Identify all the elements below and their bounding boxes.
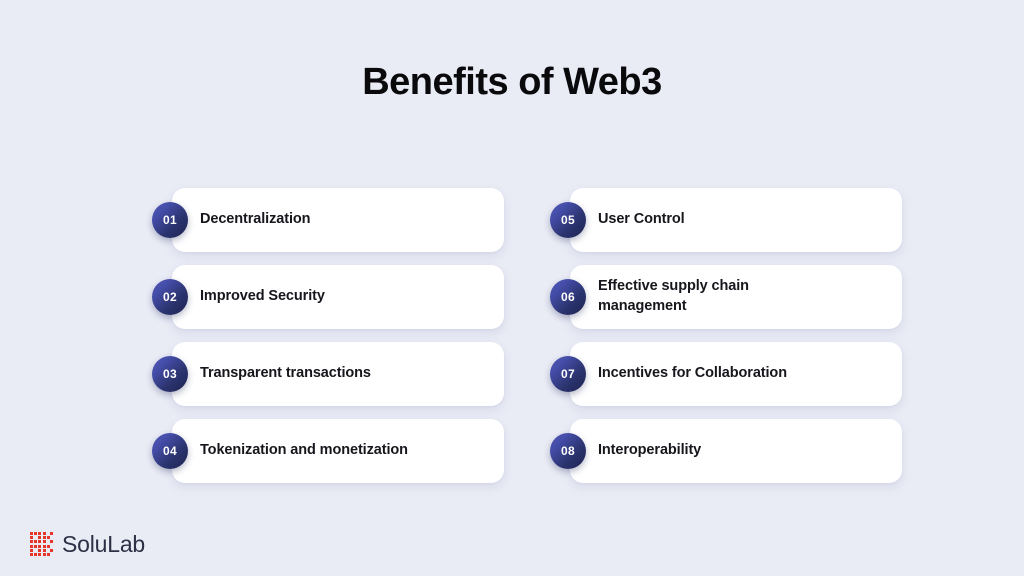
benefit-card[interactable]: 02 Improved Security (152, 265, 504, 329)
benefits-list: 01 Decentralization 02 Improved Security… (0, 188, 1024, 488)
benefit-number: 05 (561, 214, 575, 226)
benefit-card[interactable]: 08 Interoperability (550, 419, 902, 483)
benefit-number-badge: 03 (152, 356, 188, 392)
benefit-number-badge: 07 (550, 356, 586, 392)
benefit-label: Tokenization and monetization (200, 419, 490, 483)
page-title: Benefits of Web3 (0, 62, 1024, 104)
benefit-number-badge: 05 (550, 202, 586, 238)
benefit-card[interactable]: 01 Decentralization (152, 188, 504, 252)
brand-name: SoluLab (62, 533, 145, 556)
benefit-number: 02 (163, 291, 177, 303)
benefit-number: 03 (163, 368, 177, 380)
benefit-number-badge: 01 (152, 202, 188, 238)
benefit-number-badge: 04 (152, 433, 188, 469)
benefits-column-right: 05 User Control 06 Effective supply chai… (550, 188, 902, 483)
benefit-number: 04 (163, 445, 177, 457)
brand-logo: SoluLab (30, 532, 145, 556)
benefit-number-badge: 08 (550, 433, 586, 469)
benefit-label: Improved Security (200, 265, 490, 329)
benefit-label: User Control (598, 188, 888, 252)
benefit-card[interactable]: 03 Transparent transactions (152, 342, 504, 406)
benefit-number: 07 (561, 368, 575, 380)
benefit-number: 01 (163, 214, 177, 226)
benefit-number-badge: 02 (152, 279, 188, 315)
benefit-card[interactable]: 04 Tokenization and monetization (152, 419, 504, 483)
benefit-number-badge: 06 (550, 279, 586, 315)
benefit-number: 06 (561, 291, 575, 303)
benefit-card[interactable]: 05 User Control (550, 188, 902, 252)
benefit-label: Incentives for Collaboration (598, 342, 888, 406)
benefit-label: Decentralization (200, 188, 490, 252)
benefit-label: Transparent transactions (200, 342, 490, 406)
benefit-number: 08 (561, 445, 575, 457)
solulab-qr-mark-icon (30, 532, 53, 556)
benefit-label: Effective supply chain management (598, 265, 888, 329)
benefit-card[interactable]: 07 Incentives for Collaboration (550, 342, 902, 406)
benefit-card[interactable]: 06 Effective supply chain management (550, 265, 902, 329)
benefit-label: Interoperability (598, 419, 888, 483)
benefits-column-left: 01 Decentralization 02 Improved Security… (152, 188, 504, 483)
slide-root: Benefits of Web3 01 Decentralization 02 … (0, 0, 1024, 576)
